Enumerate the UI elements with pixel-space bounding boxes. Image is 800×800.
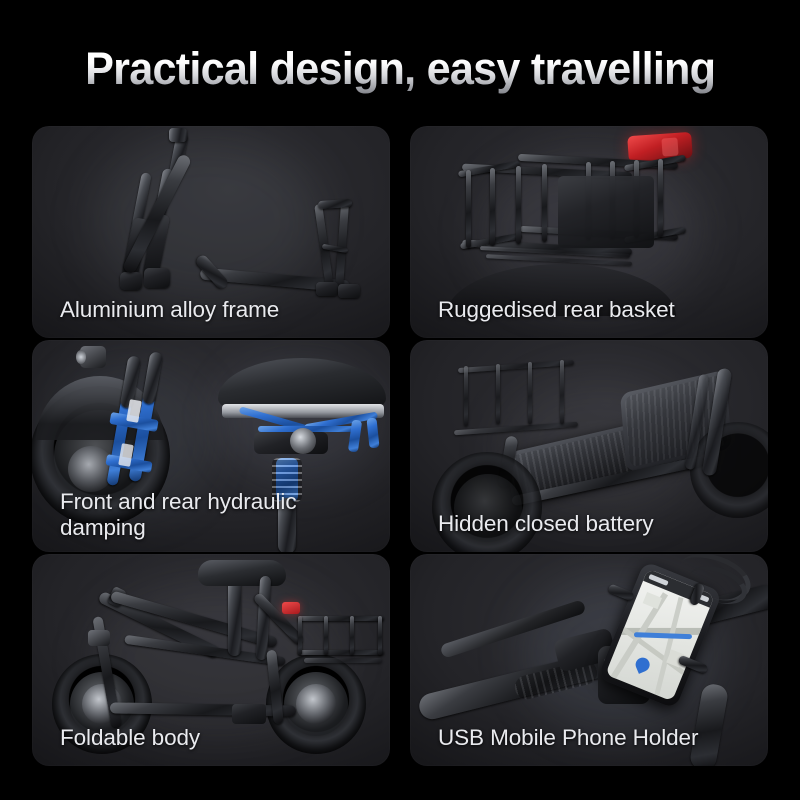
- feature-card-aluminium-alloy-frame[interactable]: Aluminium alloy frame: [32, 126, 390, 338]
- feature-caption: USB Mobile Phone Holder: [438, 725, 698, 752]
- feature-card-foldable-body[interactable]: Foldable body: [32, 554, 390, 766]
- feature-caption-line-1: Front and rear hydraulic: [60, 489, 296, 516]
- feature-card-ruggedised-rear-basket[interactable]: Ruggedised rear basket: [410, 126, 768, 338]
- feature-caption: Foldable body: [60, 725, 200, 752]
- feature-caption: Hidden closed battery: [438, 511, 654, 538]
- tail-light-icon: [282, 602, 300, 614]
- feature-caption: Front and rear hydraulic damping: [60, 489, 296, 542]
- feature-caption-line-2: damping: [60, 515, 296, 542]
- page-title-container: Practical design, easy travelling: [0, 38, 800, 100]
- feature-caption: Ruggedised rear basket: [438, 297, 675, 324]
- feature-caption: Aluminium alloy frame: [60, 297, 279, 324]
- feature-card-front-and-rear-hydraulic-damping[interactable]: Front and rear hydraulic damping: [32, 340, 390, 552]
- feature-card-hidden-closed-battery[interactable]: Hidden closed battery: [410, 340, 768, 552]
- feature-card-usb-mobile-phone-holder[interactable]: USB Mobile Phone Holder: [410, 554, 768, 766]
- feature-grid: Aluminium alloy frame: [32, 126, 768, 764]
- page-title: Practical design, easy travelling: [85, 43, 715, 95]
- product-feature-page: Practical design, easy travelling: [0, 0, 800, 800]
